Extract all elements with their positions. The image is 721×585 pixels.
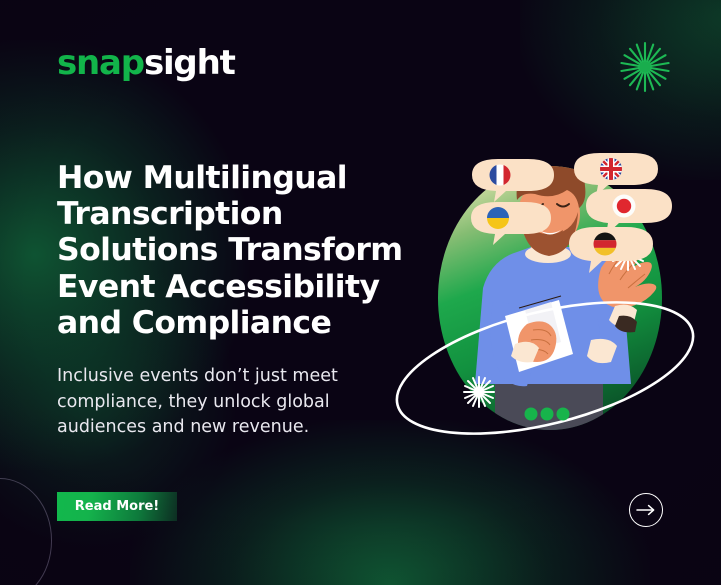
hero-subcopy: Inclusive events don’t just meet complia… (57, 364, 357, 441)
illustration-dots (525, 408, 570, 421)
multilingual-speaker-illustration (383, 138, 713, 468)
slide-canvas: snapsight How Multilingual Transcription… (0, 0, 721, 585)
flag-united-kingdom (600, 158, 622, 180)
read-more-button[interactable]: Read More! (57, 492, 177, 521)
brand-logo-sight: sight (144, 43, 235, 83)
next-slide-button[interactable] (629, 493, 663, 527)
brand-logo[interactable]: snapsight (57, 46, 235, 80)
person-trousers (495, 376, 603, 438)
page-title: How Multilingual Transcription Solutions… (57, 160, 407, 341)
flag-japan (613, 195, 636, 218)
arrow-right-icon (636, 504, 656, 516)
starburst-sparkle-icon (619, 41, 671, 93)
brand-logo-snap: snap (57, 43, 144, 83)
sparkle-lower-left (464, 377, 494, 407)
flag-germany (594, 233, 617, 256)
flag-ukraine (487, 207, 509, 229)
corner-arc-decoration (0, 478, 52, 585)
